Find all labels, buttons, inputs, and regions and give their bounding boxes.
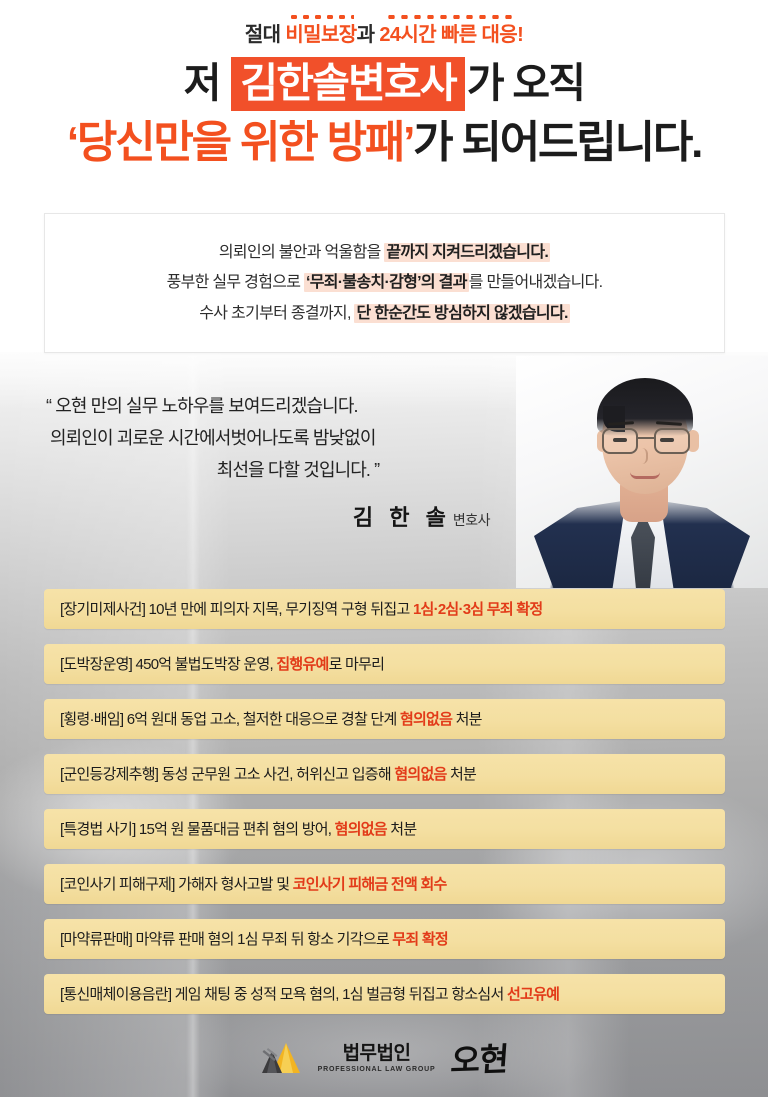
case-results-list: [장기미제사건] 10년 만에 피의자 지목, 무기징역 구형 뒤집고 1심·2…: [44, 589, 725, 1014]
promise-2-highlight: ‘무죄·불송치·감형’의 결과: [304, 273, 469, 292]
case-result-item[interactable]: [도박장운영] 450억 불법도박장 운영, 집행유예로 마무리: [44, 644, 725, 684]
case-body: 450억 불법도박장 운영,: [132, 656, 276, 673]
case-result-item[interactable]: [횡령·배임] 6억 원대 동업 고소, 철저한 대응으로 경찰 단계 혐의없음…: [44, 699, 725, 739]
case-text: [횡령·배임] 6억 원대 동업 고소, 철저한 대응으로 경찰 단계 혐의없음…: [60, 712, 482, 727]
lawyer-name-highlight-box: 김한솔변호사: [231, 57, 465, 111]
headline-line3-after: 가 되어드립니다.: [413, 118, 701, 167]
promise-line-2: 풍부한 실무 경험으로 ‘무죄·불송치·감형’의 결과를 만들어내겠습니다.: [167, 272, 603, 294]
kicker-emphasis-response: 24시간 빠른 대응!: [379, 24, 523, 46]
case-tail: 처분: [452, 711, 482, 728]
quote-line-3: 최선을 다할 것입니다. ”: [46, 454, 514, 486]
case-outcome: 혐의없음: [394, 766, 446, 783]
case-body: 6억 원대 동업 고소, 철저한 대응으로 경찰 단계: [123, 711, 400, 728]
case-body: 마약류 판매 혐의 1심 무죄 뒤 항소 기각으로: [132, 931, 392, 948]
headline-line-2: 저 김한솔변호사가 오직: [0, 57, 768, 111]
headline-line-3: ‘당신만을 위한 방패’가 되어드립니다.: [0, 118, 768, 168]
case-category: [도박장운영]: [60, 656, 132, 673]
quote-line-1: “ 오현 만의 실무 노하우를 보여드리겠습니다.: [46, 390, 514, 422]
promise-3-highlight: 단 한순간도 방심하지 않겠습니다.: [354, 304, 569, 323]
case-result-item[interactable]: [군인등강제추행] 동성 군무원 고소 사건, 허위신고 입증해 혐의없음 처분: [44, 754, 725, 794]
eyeglass-lens-right: [654, 428, 690, 454]
case-body: 가해자 형사고발 및: [175, 876, 293, 893]
case-category: [특경법 사기]: [60, 821, 136, 838]
case-outcome: 무죄 확정: [392, 931, 448, 948]
kicker-plain-2: 과: [357, 24, 380, 46]
case-result-item[interactable]: [통신매체이용음란] 게임 채팅 중 성적 모욕 혐의, 1심 벌금형 뒤집고 …: [44, 974, 725, 1014]
case-text: [코인사기 피해구제] 가해자 형사고발 및 코인사기 피해금 전액 회수: [60, 877, 447, 892]
case-outcome: 혐의없음: [335, 821, 387, 838]
law-firm-wordmark: 법무법인 PROFESSIONAL LAW GROUP: [318, 1044, 436, 1073]
footer-logo-block[interactable]: 법무법인 PROFESSIONAL LAW GROUP 오현: [0, 1035, 768, 1081]
case-category: [횡령·배임]: [60, 711, 123, 728]
lawyer-quote-block: “ 오현 만의 실무 노하우를 보여드리겠습니다. 의뢰인이 괴로운 시간에서벗…: [46, 390, 514, 532]
case-tail: 처분: [387, 821, 417, 838]
signature-role: 변호사: [453, 512, 490, 528]
promise-box: 의뢰인의 불안과 억울함을 끝까지 지켜드리겠습니다. 풍부한 실무 경험으로 …: [44, 213, 725, 353]
case-text: [마약류판매] 마약류 판매 혐의 1심 무죄 뒤 항소 기각으로 무죄 확정: [60, 932, 448, 947]
case-category: [군인등강제추행]: [60, 766, 158, 783]
case-category: [통신매체이용음란]: [60, 986, 171, 1003]
poster-root: 절대 비밀보장과 24시간 빠른 대응! 저 김한솔변호사가 오직 ‘당신만을 …: [0, 0, 768, 1097]
promise-line-3: 수사 초기부터 종결까지, 단 한순간도 방심하지 않겠습니다.: [199, 303, 569, 325]
case-text: [통신매체이용음란] 게임 채팅 중 성적 모욕 혐의, 1심 벌금형 뒤집고 …: [60, 987, 559, 1002]
headline-kicker: 절대 비밀보장과 24시간 빠른 대응!: [0, 24, 768, 46]
promise-3-before: 수사 초기부터 종결까지,: [199, 305, 354, 322]
case-outcome: 1심·2심·3심 무죄 확정: [413, 601, 542, 618]
case-text: [군인등강제추행] 동성 군무원 고소 사건, 허위신고 입증해 혐의없음 처분: [60, 767, 476, 782]
case-category: [마약류판매]: [60, 931, 132, 948]
portrait-mouth: [630, 472, 660, 479]
case-text: [특경법 사기] 15억 원 물품대금 편취 혐의 방어, 혐의없음 처분: [60, 822, 416, 837]
law-firm-english-label: PROFESSIONAL LAW GROUP: [318, 1066, 436, 1073]
case-category: [장기미제사건]: [60, 601, 145, 618]
promise-line-1: 의뢰인의 불안과 억울함을 끝까지 지켜드리겠습니다.: [219, 242, 550, 264]
promise-1-before: 의뢰인의 불안과 억울함을: [219, 244, 384, 261]
case-text: [장기미제사건] 10년 만에 피의자 지목, 무기징역 구형 뒤집고 1심·2…: [60, 602, 542, 617]
quote-signature: 김 한 솔변호사: [46, 500, 514, 532]
quote-line-2: 의뢰인이 괴로운 시간에서벗어나도록 밤낮없이: [46, 422, 514, 454]
kicker-plain-1: 절대: [245, 24, 286, 46]
case-category: [코인사기 피해구제]: [60, 876, 175, 893]
law-firm-korean-label: 법무법인: [343, 1044, 411, 1063]
eyeglass-bridge: [638, 437, 654, 439]
promise-1-highlight: 끝까지 지켜드리겠습니다.: [384, 243, 550, 262]
case-tail: 처분: [447, 766, 477, 783]
law-firm-brand-name: 오현: [450, 1034, 510, 1082]
headline-block: 절대 비밀보장과 24시간 빠른 대응! 저 김한솔변호사가 오직 ‘당신만을 …: [0, 24, 768, 169]
signature-name: 김 한 솔: [353, 505, 451, 530]
case-tail: 로 마무리: [329, 656, 385, 673]
case-result-item[interactable]: [코인사기 피해구제] 가해자 형사고발 및 코인사기 피해금 전액 회수: [44, 864, 725, 904]
case-body: 동성 군무원 고소 사건, 허위신고 입증해: [158, 766, 394, 783]
headline-line2-before: 저: [184, 60, 230, 106]
case-result-item[interactable]: [장기미제사건] 10년 만에 피의자 지목, 무기징역 구형 뒤집고 1심·2…: [44, 589, 725, 629]
portrait-nose: [640, 448, 648, 464]
promise-2-before: 풍부한 실무 경험으로: [167, 274, 304, 291]
case-outcome: 혐의없음: [400, 711, 452, 728]
case-outcome: 집행유예: [276, 656, 328, 673]
case-outcome: 코인사기 피해금 전액 회수: [293, 876, 447, 893]
lawyer-portrait-photo: [516, 356, 768, 588]
case-result-item[interactable]: [특경법 사기] 15억 원 물품대금 편취 혐의 방어, 혐의없음 처분: [44, 809, 725, 849]
kicker-emphasis-secrecy: 비밀보장: [285, 24, 356, 46]
case-body: 게임 채팅 중 성적 모욕 혐의, 1심 벌금형 뒤집고 항소심서: [171, 986, 507, 1003]
case-body: 15억 원 물품대금 편취 혐의 방어,: [136, 821, 335, 838]
case-body: 10년 만에 피의자 지목, 무기징역 구형 뒤집고: [145, 601, 413, 618]
case-result-item[interactable]: [마약류판매] 마약류 판매 혐의 1심 무죄 뒤 항소 기각으로 무죄 확정: [44, 919, 725, 959]
promise-2-after: 를 만들어내겠습니다.: [469, 274, 603, 291]
law-firm-mountain-icon: [260, 1041, 306, 1075]
case-outcome: 선고유예: [507, 986, 559, 1003]
case-text: [도박장운영] 450억 불법도박장 운영, 집행유예로 마무리: [60, 657, 384, 672]
headline-shield-phrase: ‘당신만을 위한 방패’: [67, 118, 413, 167]
eyeglass-lens-left: [602, 428, 638, 454]
headline-line2-after: 가 오직: [467, 60, 584, 106]
